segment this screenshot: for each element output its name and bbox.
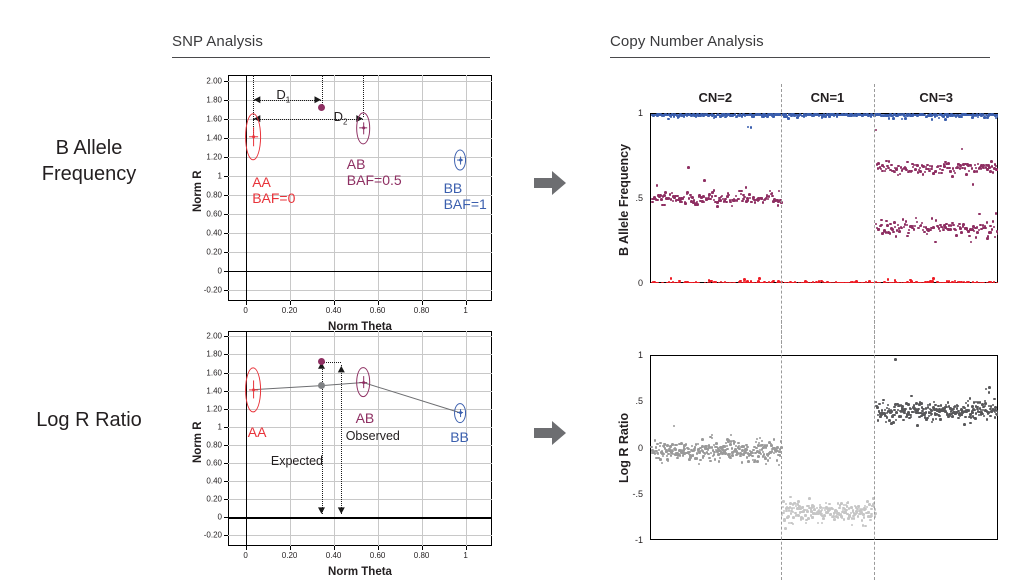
segment-label-CN-1: CN=1 [811,90,845,105]
section-header-snp-analysis: SNP Analysis [172,33,490,58]
y-tick-label: 1 [638,350,643,360]
cluster-label-AB: AB [356,410,375,426]
right-arrow-icon [533,168,567,198]
segment-separator [781,84,782,344]
scatter-points-layer [650,355,998,540]
cluster-label-text: AA [248,424,267,440]
y-axis-title: Log R Ratio [617,413,631,483]
y-axis-title: B Allele Frequency [617,144,631,256]
genotype-cluster-AA [245,113,261,160]
cluster-label-text: BB [450,429,469,445]
row-label-line-2: Frequency [4,162,174,188]
row-label-b-allele-frequency: B Allele Frequency [4,136,174,187]
distance-label-D2: D2 [334,109,348,127]
genotype-cluster-AB [356,113,370,144]
segment-separator [874,320,875,580]
y-tick-label: .5 [635,396,643,406]
cluster-label-text: AA [252,174,295,190]
cluster-baf-text: BAF=1 [444,196,487,212]
cluster-label-AA: AA BAF=0 [252,174,295,206]
figure-canvas: B Allele Frequency Log R Ratio SNP Analy… [0,0,1010,568]
genotype-cluster-BB [454,403,466,423]
section-title-cn: Copy Number Analysis [610,33,990,50]
row-label-line-1: B Allele [4,136,174,162]
cluster-baf-text: BAF=0 [252,190,295,206]
right-arrow-icon [533,418,567,448]
cluster-label-text: AB [347,156,402,172]
chart-baf-by-copy-number: 1.50B Allele FrequencyCN=2CN=1CN=3 [612,78,1010,308]
cluster-label-text: AB [356,410,375,426]
segment-separator [874,84,875,344]
y-tick-label: .5 [635,193,643,203]
guide-line-vertical [322,75,323,107]
segment-label-CN-3: CN=3 [919,90,953,105]
y-tick-label: 1 [638,108,643,118]
chart-snp-theta-r-bottom: 2.001.801.601.401.2010.800.600.400.200-0… [190,318,510,568]
annotation-expected: Expected [271,454,323,468]
chart-snp-theta-r-top: 2.001.801.601.401.2010.800.600.400.200-0… [190,62,510,322]
genotype-cluster-AA [245,367,261,412]
y-tick-label: 0 [638,278,643,288]
y-tick-label: -1 [635,535,643,545]
cluster-baf-text: BAF=0.5 [347,172,402,188]
distance-label-D1: D1 [276,87,290,105]
segment-label-CN-2: CN=2 [698,90,732,105]
cluster-label-BB: BB [450,429,469,445]
chart-lrr-by-copy-number: 1.50-.5-1Log R Ratio [612,330,1010,560]
section-title-snp: SNP Analysis [172,33,490,50]
section-rule-snp [172,57,490,58]
y-tick-label: 0 [638,443,643,453]
segment-separator [781,320,782,580]
cluster-label-AA: AA [248,424,267,440]
genotype-cluster-BB [454,150,466,171]
section-rule-cn [610,57,990,58]
cluster-label-BB: BB BAF=1 [444,180,487,212]
observed-point [318,104,325,111]
y-tick-label: -.5 [632,489,643,499]
scatter-points-layer [650,113,998,283]
cluster-label-text: BB [444,180,487,196]
section-header-copy-number-analysis: Copy Number Analysis [610,33,990,58]
row-label-log-r-ratio: Log R Ratio [4,408,174,434]
cluster-label-AB: AB BAF=0.5 [347,156,402,188]
annotation-observed: Observed [346,429,400,443]
genotype-cluster-AB [356,368,370,398]
guide-line-vertical [363,75,364,117]
